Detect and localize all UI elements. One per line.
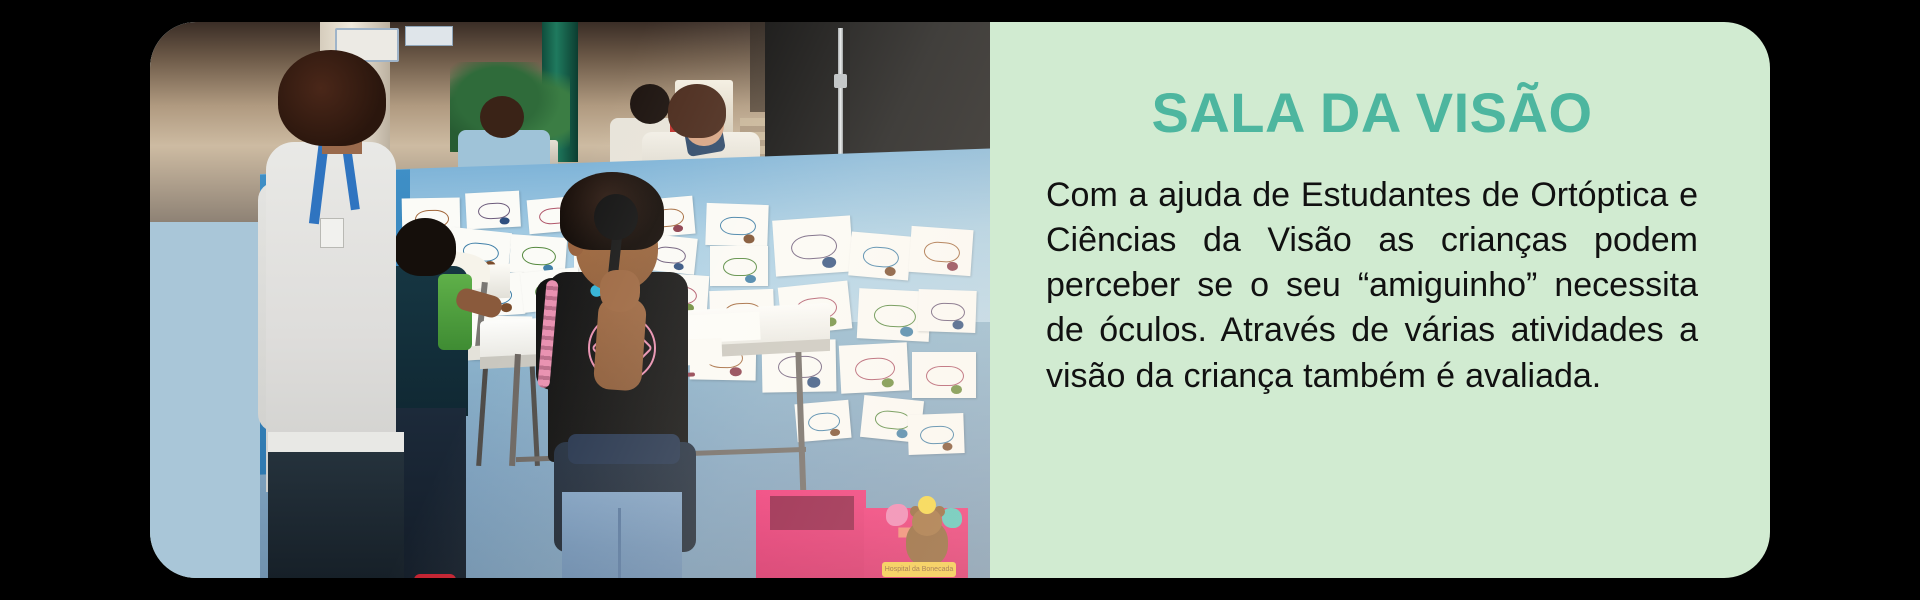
section-body: Com a ajuda de Estudantes de Ortóptica e… [1046,173,1698,399]
photo-panel: Hospital da Bonecada [150,22,990,578]
photo-light-overlay [150,22,990,578]
info-card: Hospital da Bonecada [150,22,1770,578]
section-title: SALA DA VISÃO [1046,84,1698,143]
text-panel: SALA DA VISÃO Com a ajuda de Estudantes … [990,22,1770,578]
